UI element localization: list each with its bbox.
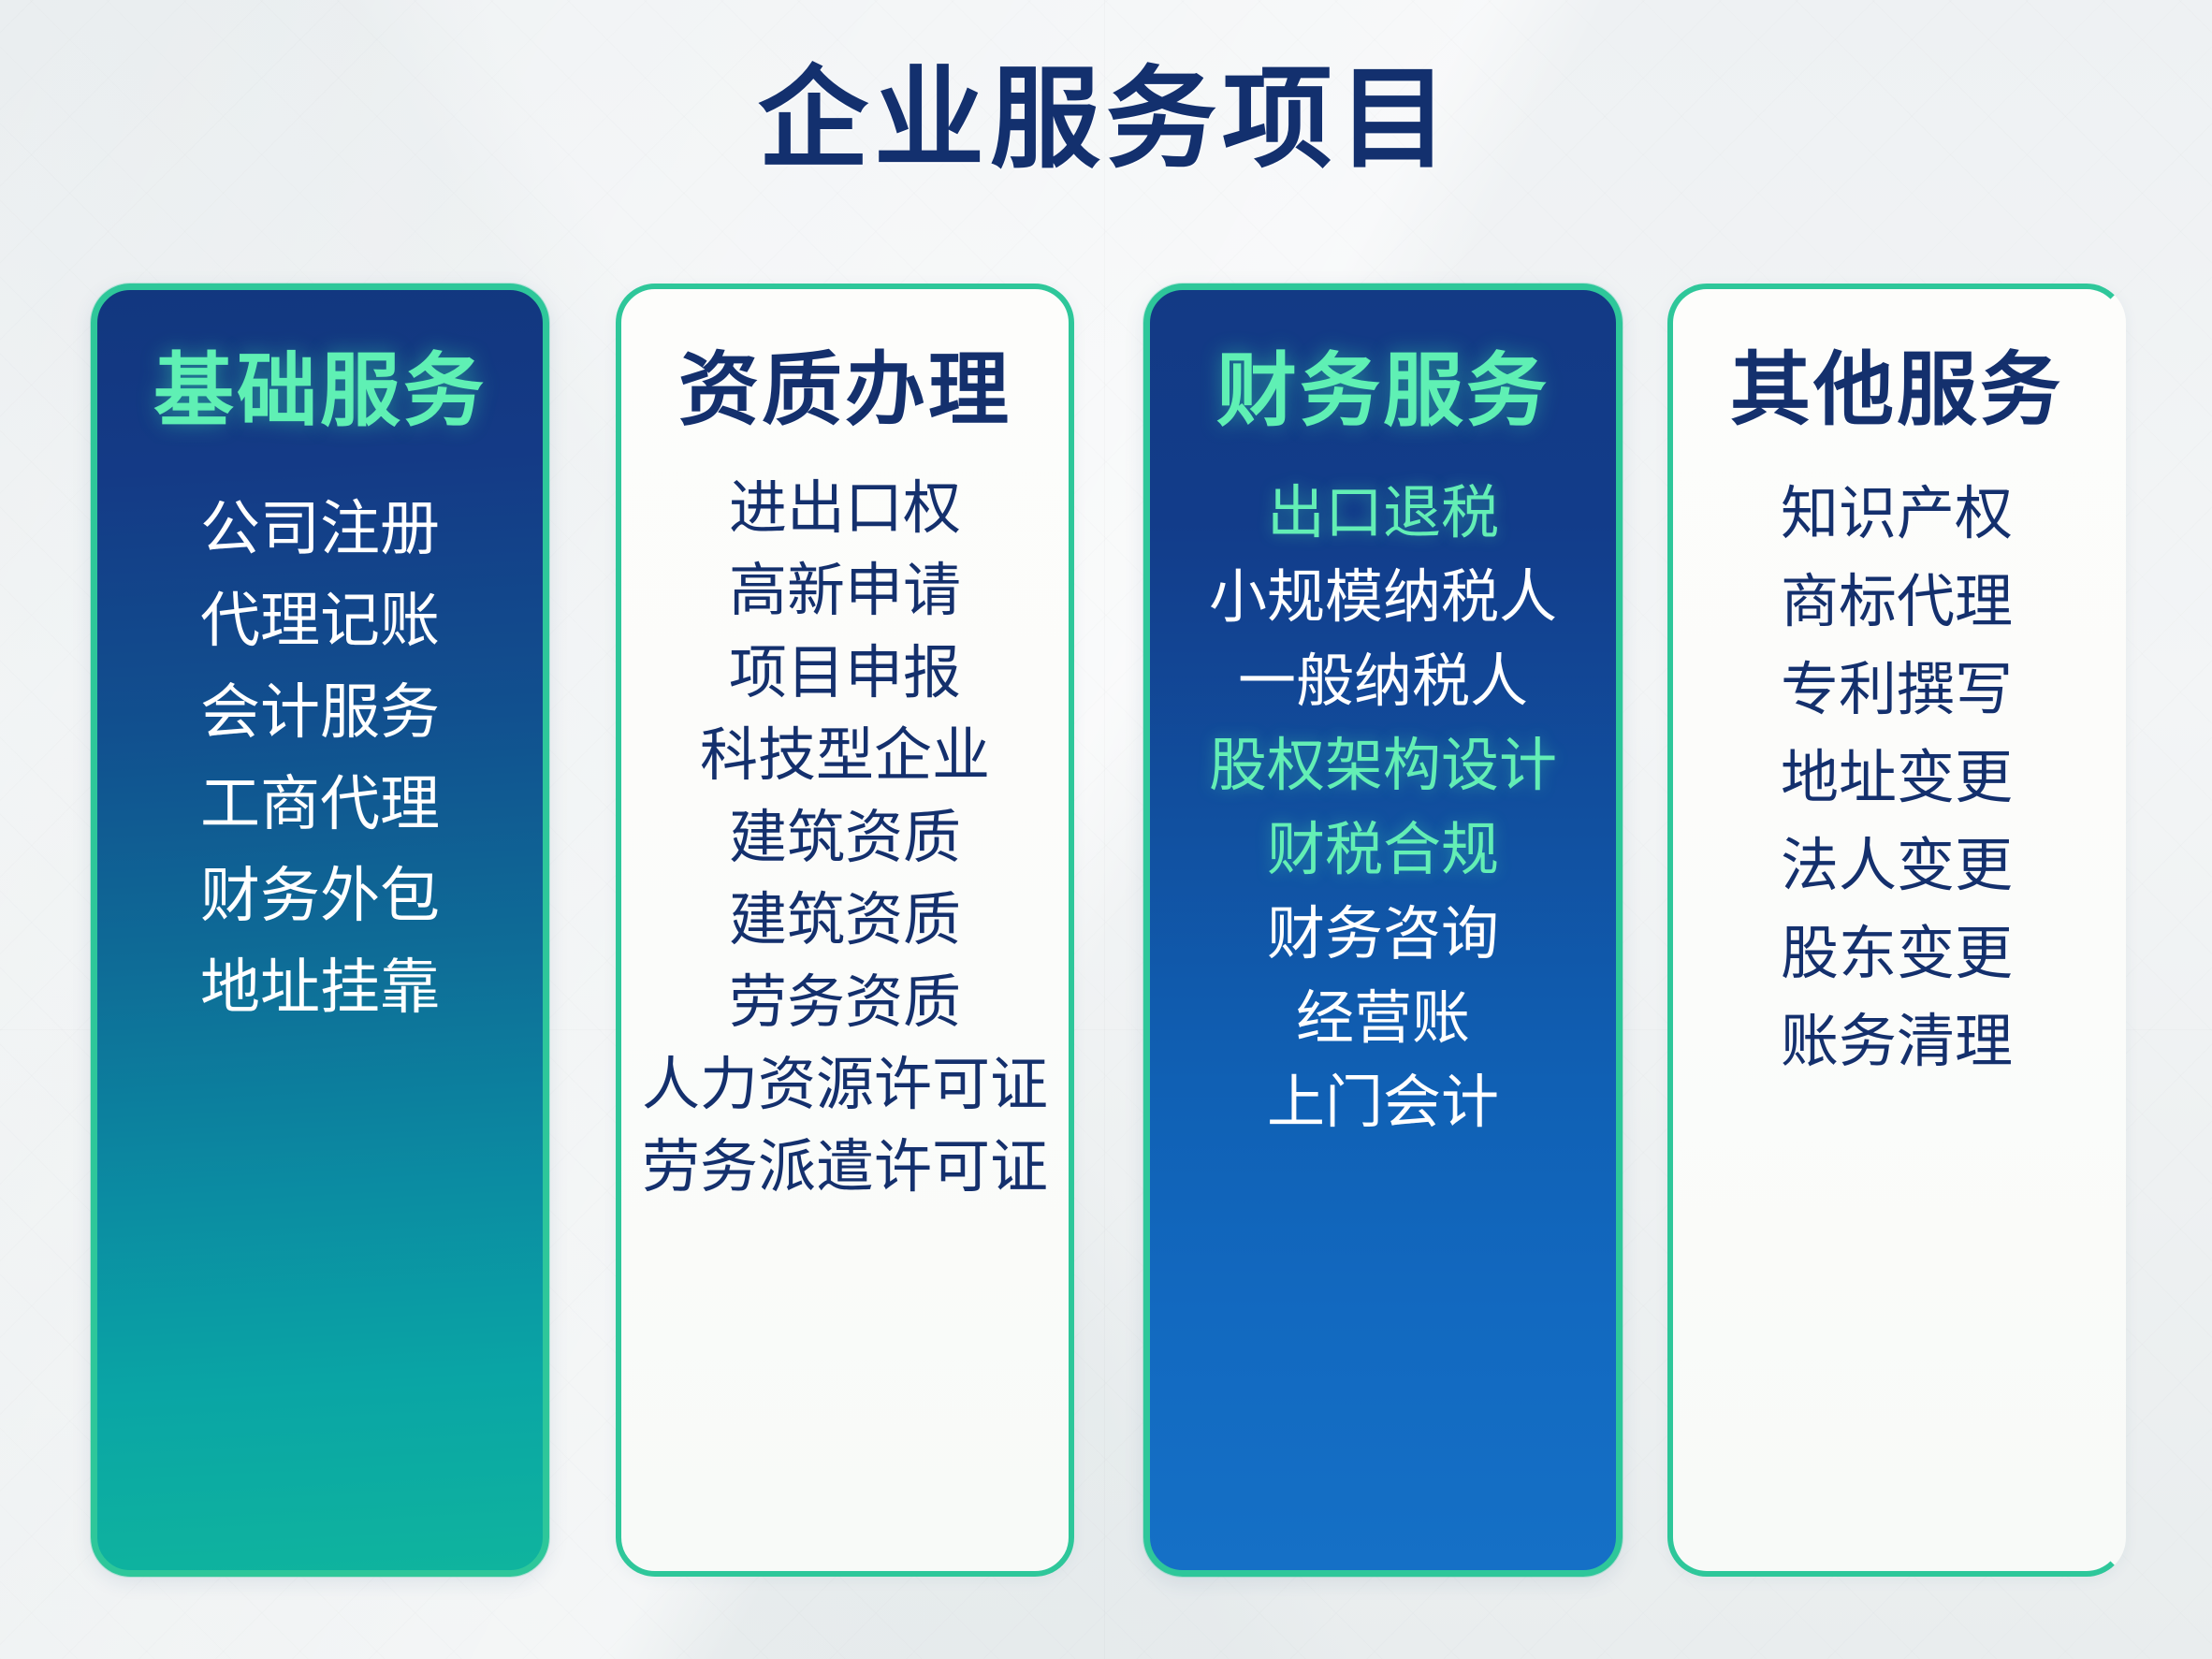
service-item[interactable]: 法人变更 (1781, 832, 2013, 901)
service-card-finance[interactable]: 财务服务 出口退税 小规模纳税人 一般纳税人 股权架构设计 财税合规 财务咨询 … (1143, 284, 1623, 1577)
service-item-list: 出口退税 小规模纳税人 一般纳税人 股权架构设计 财税合规 财务咨询 经营账 上… (1150, 479, 1616, 1153)
service-item[interactable]: 高新申请 (729, 557, 961, 626)
service-item[interactable]: 地址挂靠 (200, 953, 440, 1022)
service-item[interactable]: 科技型企业 (700, 721, 990, 791)
card-title-basic: 基础服务 (153, 348, 487, 434)
service-item[interactable]: 劳务资质 (729, 968, 961, 1038)
service-item[interactable]: 会计服务 (200, 677, 440, 747)
background-seam-vertical (1104, 0, 1105, 1659)
card-title-qualification: 资质办理 (678, 347, 1011, 433)
service-item[interactable]: 地址变更 (1781, 744, 2013, 813)
service-card-basic[interactable]: 基础服务 公司注册 代理记账 会计服务 工商代理 财务外包 地址挂靠 (91, 284, 549, 1577)
service-item[interactable]: 股权架构设计 (1209, 732, 1557, 801)
service-item[interactable]: 财务外包 (200, 861, 440, 930)
service-item[interactable]: 建筑资质 (729, 804, 961, 873)
service-item-list: 进出口权 高新申请 项目申报 科技型企业 建筑资质 建筑资质 劳务资质 人力资源… (621, 474, 1069, 1215)
service-item[interactable]: 劳务派遣许可证 (642, 1133, 1048, 1202)
service-item[interactable]: 上门会计 (1267, 1069, 1499, 1138)
card-content: 基础服务 公司注册 代理记账 会计服务 工商代理 财务外包 地址挂靠 (97, 290, 543, 1570)
service-poster: 企业服务项目 基础服务 公司注册 代理记账 会计服务 工商代理 财务外包 地址挂… (0, 0, 2212, 1659)
service-item[interactable]: 代理记账 (200, 586, 440, 655)
service-card-qualification[interactable]: 资质办理 进出口权 高新申请 项目申报 科技型企业 建筑资质 建筑资质 劳务资质… (616, 284, 1074, 1577)
service-item[interactable]: 工商代理 (200, 769, 440, 838)
card-content: 财务服务 出口退税 小规模纳税人 一般纳税人 股权架构设计 财税合规 财务咨询 … (1150, 290, 1616, 1570)
page-title: 企业服务项目 (0, 54, 2212, 185)
service-item[interactable]: 项目申报 (729, 639, 961, 708)
service-item[interactable]: 财税合规 (1267, 816, 1499, 885)
card-content: 资质办理 进出口权 高新申请 项目申报 科技型企业 建筑资质 建筑资质 劳务资质… (621, 289, 1069, 1571)
service-item-list: 知识产权 商标代理 专利撰写 地址变更 法人变更 股东变更 账务清理 (1673, 480, 2120, 1096)
service-item[interactable]: 公司注册 (200, 494, 440, 563)
service-item[interactable]: 财务咨询 (1267, 900, 1499, 969)
service-item[interactable]: 股东变更 (1781, 920, 2013, 989)
service-card-other[interactable]: 其他服务 知识产权 商标代理 专利撰写 地址变更 法人变更 股东变更 账务清理 (1667, 284, 2126, 1577)
service-item[interactable]: 一般纳税人 (1238, 648, 1528, 717)
service-item[interactable]: 建筑资质 (729, 886, 961, 955)
service-item-list: 公司注册 代理记账 会计服务 工商代理 财务外包 地址挂靠 (97, 494, 543, 1044)
card-title-finance: 财务服务 (1216, 348, 1550, 434)
card-title-other: 其他服务 (1730, 347, 2063, 433)
service-item[interactable]: 知识产权 (1781, 480, 2013, 549)
service-item[interactable]: 商标代理 (1781, 568, 2013, 637)
service-item[interactable]: 出口退税 (1267, 479, 1499, 548)
service-item[interactable]: 账务清理 (1781, 1008, 2013, 1077)
service-item[interactable]: 专利撰写 (1781, 656, 2013, 725)
service-item[interactable]: 小规模纳税人 (1209, 563, 1557, 633)
card-right-edge (2120, 284, 2126, 1458)
service-item[interactable]: 人力资源许可证 (642, 1051, 1048, 1120)
card-content: 其他服务 知识产权 商标代理 专利撰写 地址变更 法人变更 股东变更 账务清理 (1673, 289, 2120, 1571)
service-item[interactable]: 进出口权 (729, 474, 961, 544)
service-item[interactable]: 经营账 (1296, 984, 1470, 1054)
